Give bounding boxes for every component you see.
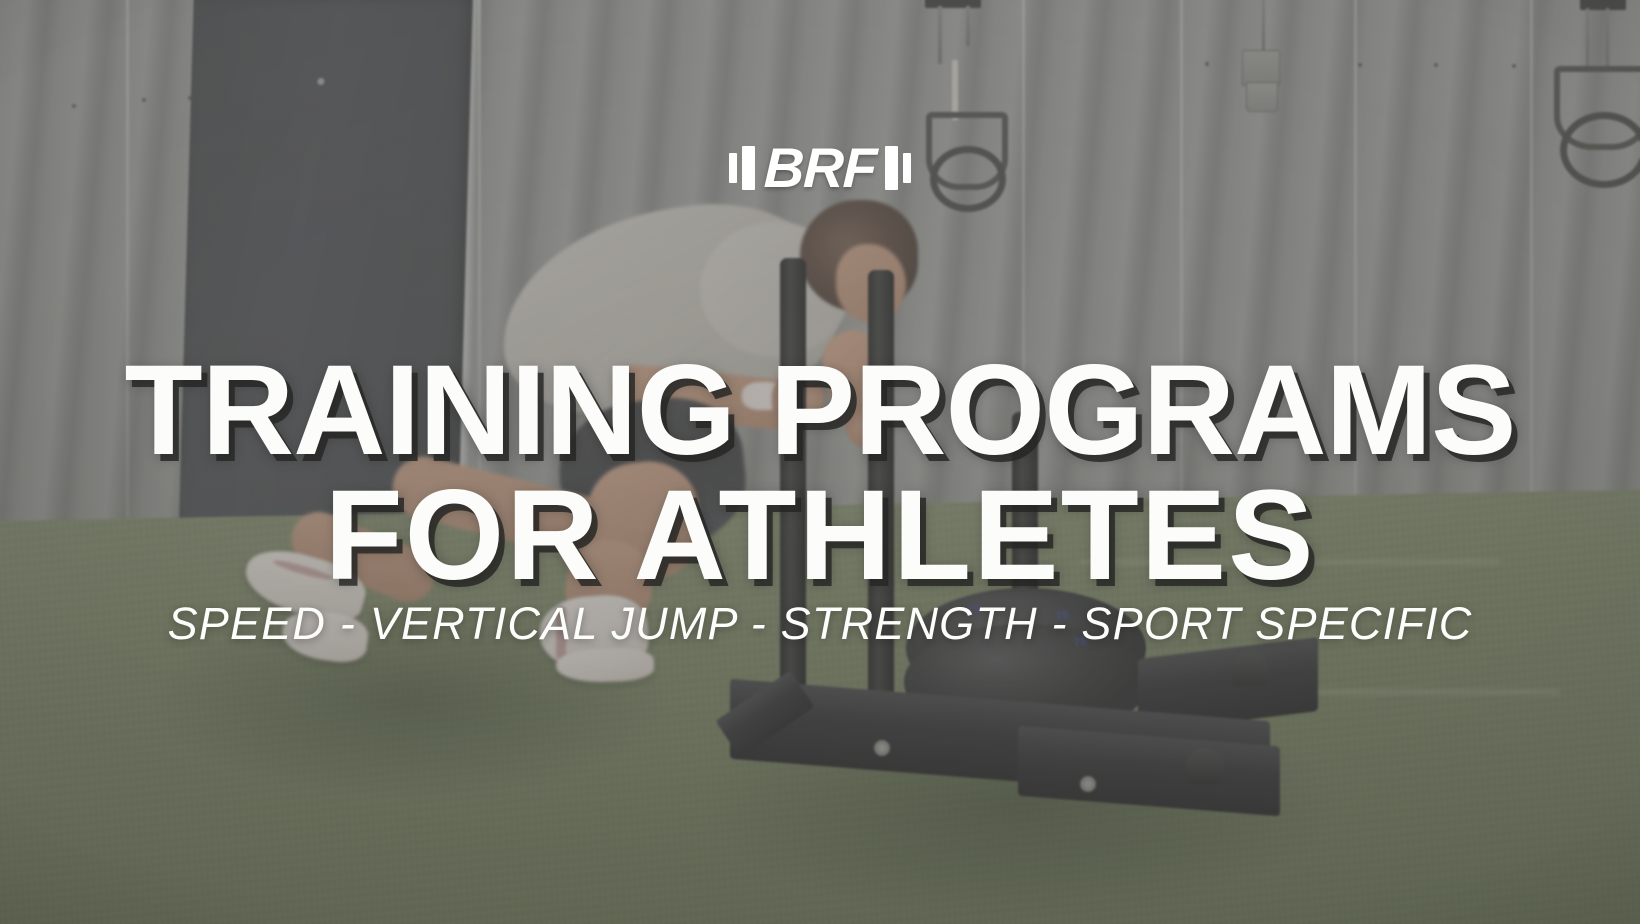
strap — [938, 6, 942, 64]
hero-title-line-1: TRAINING PROGRAMS — [0, 348, 1640, 473]
barbell-bar-icon — [729, 146, 755, 190]
barbell-plate-inner — [885, 146, 898, 190]
wall-screw — [1434, 63, 1438, 67]
sled-post-socket — [1186, 748, 1224, 784]
barbell-plate-inner — [742, 146, 755, 190]
pulley-weight — [1246, 82, 1278, 112]
hero-subtitle: SPEED - VERTICAL JUMP - STRENGTH - SPORT… — [0, 598, 1640, 650]
wall-screw — [1358, 63, 1362, 67]
pulley-cable — [1262, 0, 1265, 50]
wall-screw — [72, 104, 76, 108]
sled-bolt — [1080, 776, 1096, 792]
barbell-plate-outer — [729, 153, 737, 183]
pulley-box — [1242, 50, 1280, 86]
wall-screw — [142, 98, 146, 102]
strap — [966, 6, 970, 46]
sled-post-socket — [1232, 652, 1268, 686]
sled-bolt — [874, 740, 890, 756]
video-thumbnail-hero: 75 75 75 BRF — [0, 0, 1640, 924]
brf-logo-text: BRF — [763, 140, 877, 196]
brf-logo[interactable]: BRF — [0, 140, 1640, 196]
strap-anchor — [925, 0, 981, 8]
hero-title-line-2: FOR ATHLETES — [0, 473, 1640, 598]
hero-title: TRAINING PROGRAMS FOR ATHLETES — [0, 348, 1640, 599]
barbell-bar-icon — [885, 146, 911, 190]
wall-screw — [1205, 62, 1209, 66]
wall-screw — [1512, 64, 1516, 68]
door-handle-dot — [317, 78, 324, 85]
ring-strap — [1606, 8, 1609, 70]
ring-strap — [1586, 8, 1589, 70]
athlete-front-shoe-sole — [555, 646, 654, 683]
strap-webbing — [952, 60, 958, 120]
barbell-plate-outer — [903, 153, 911, 183]
